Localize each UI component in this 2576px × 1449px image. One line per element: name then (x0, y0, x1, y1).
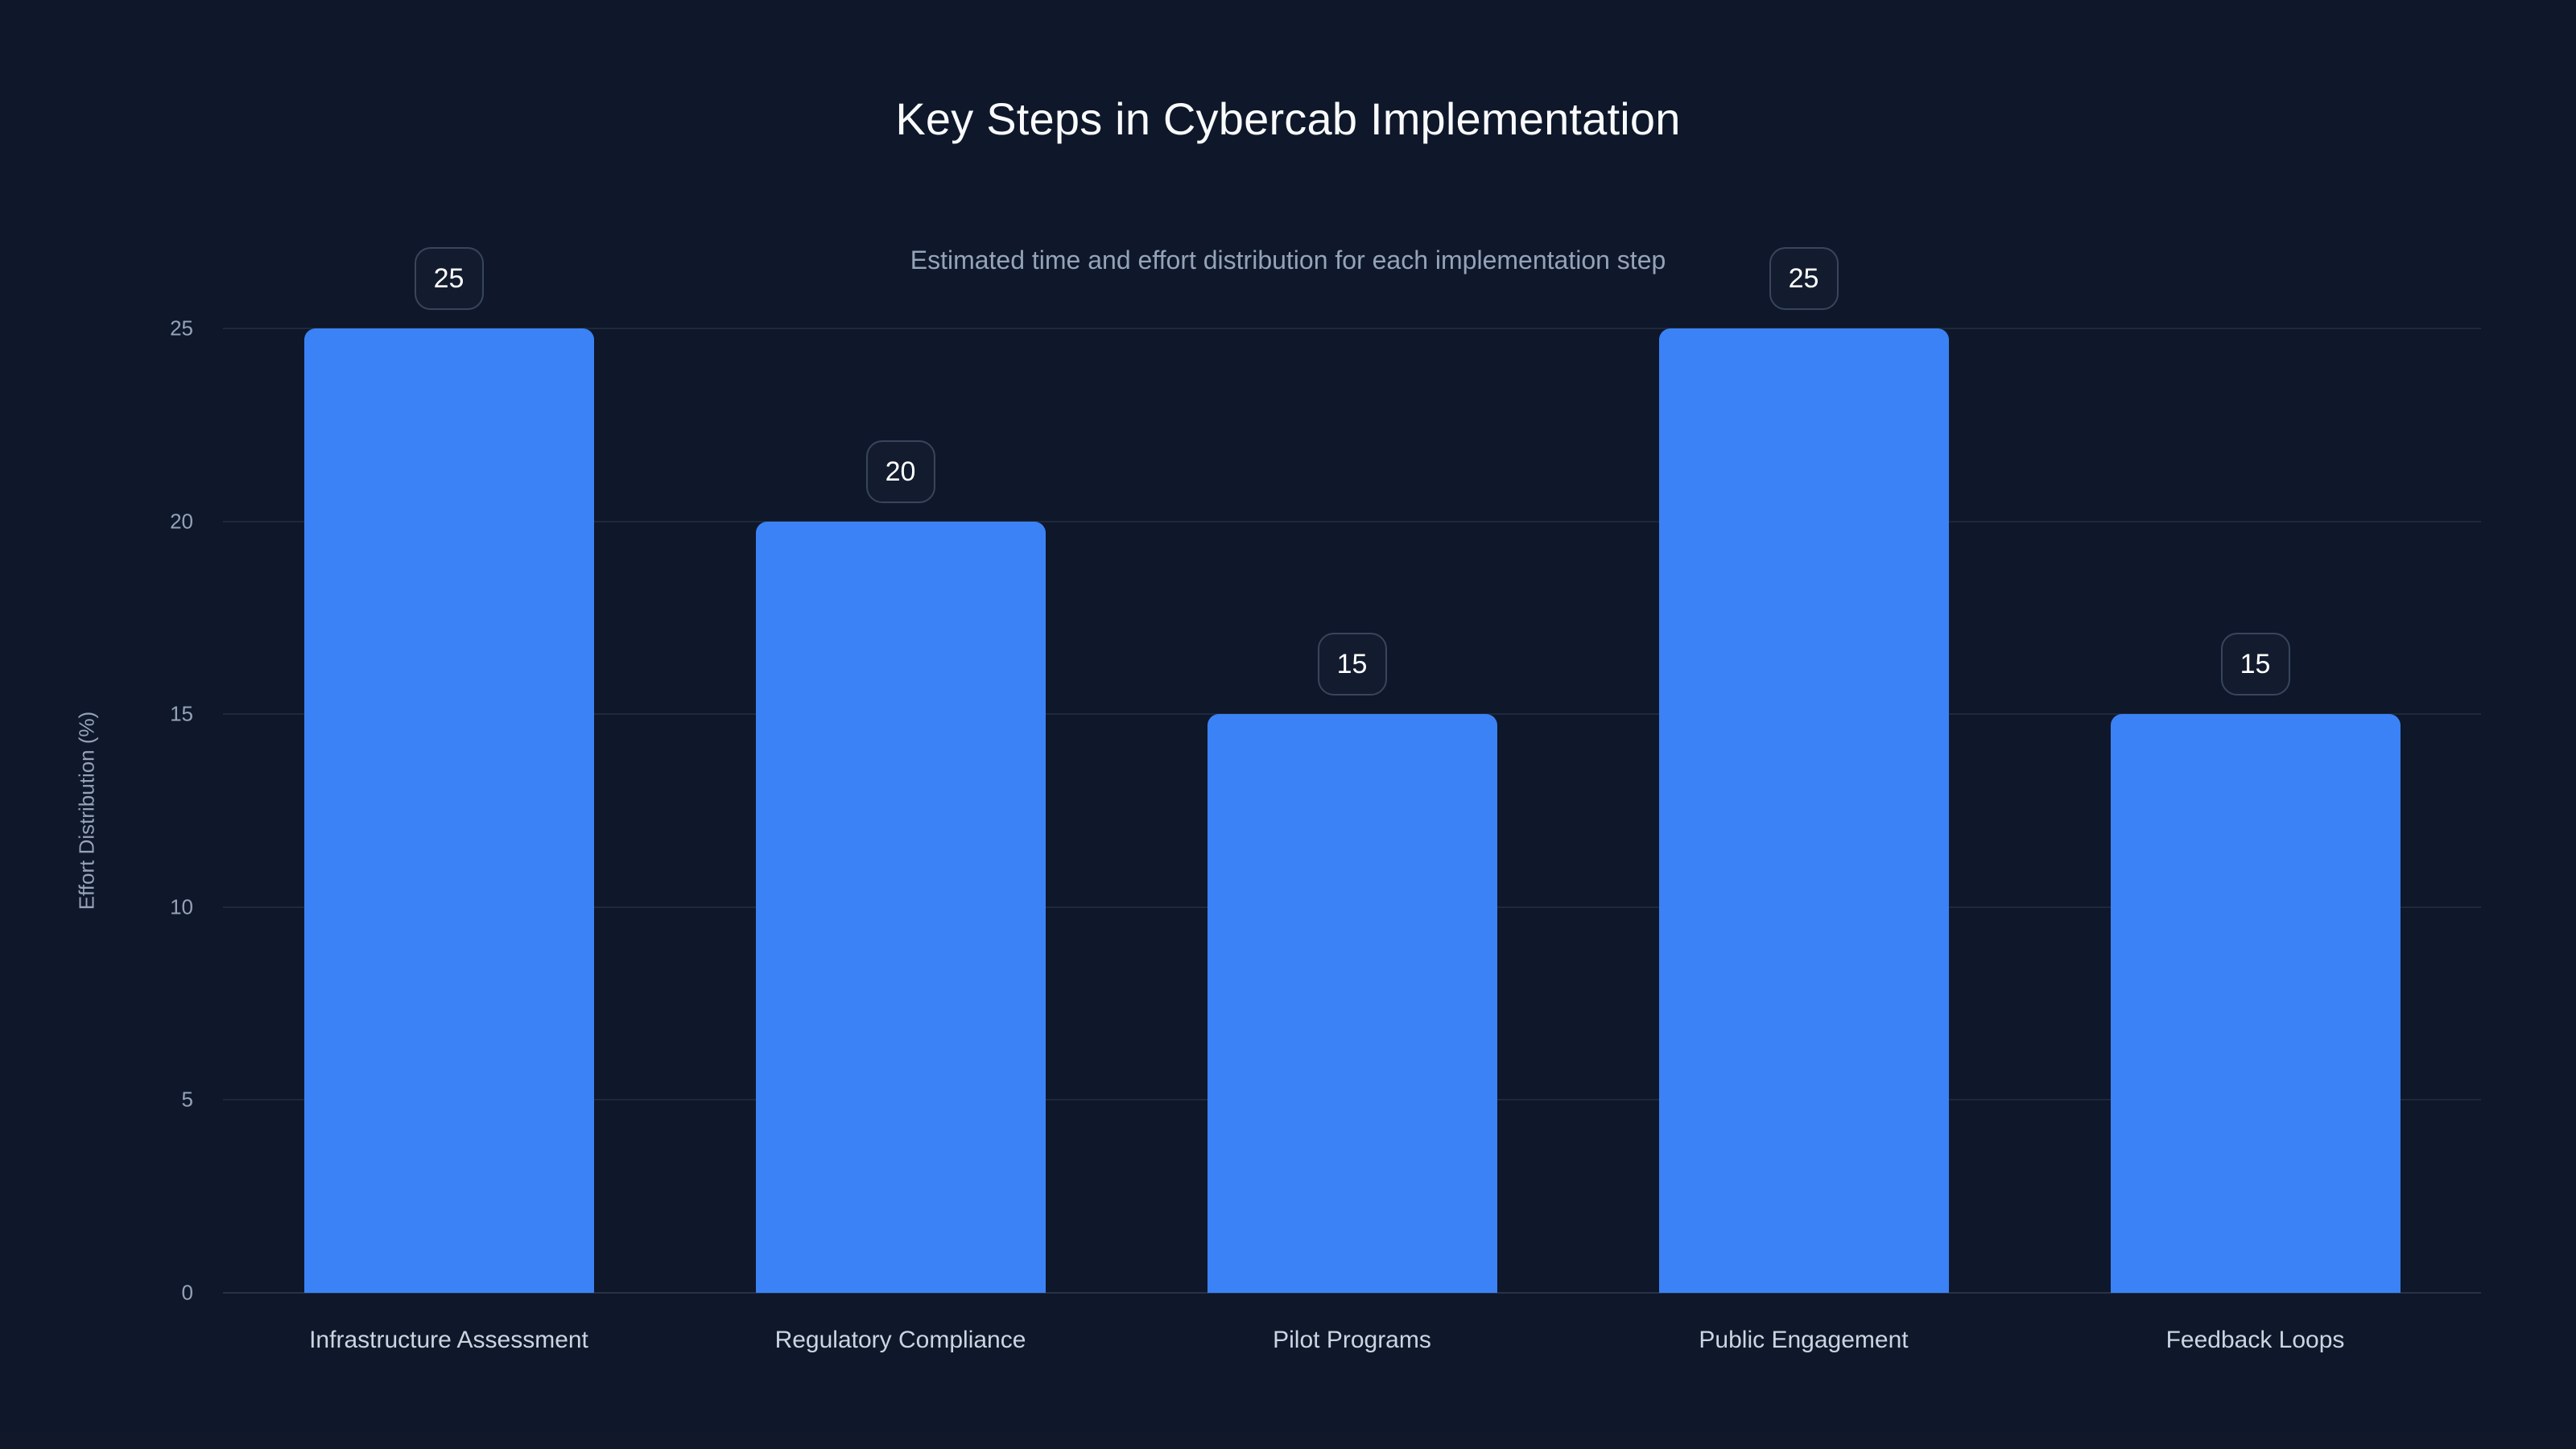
bar-value-badge: 25 (1769, 247, 1839, 310)
plot-area (223, 328, 2481, 1293)
y-axis-title: Effort Distribution (%) (75, 712, 100, 910)
y-axis-tick-label: 5 (72, 1088, 193, 1113)
bar-value-badge: 20 (866, 440, 935, 503)
bar-value-badge: 15 (1318, 633, 1387, 696)
canvas-bottom-edge (0, 1432, 2576, 1449)
y-axis-tick-label: 0 (72, 1281, 193, 1306)
bar[interactable] (304, 328, 594, 1293)
bar[interactable] (1659, 328, 1949, 1293)
x-axis-category-label: Feedback Loops (2166, 1327, 2345, 1354)
x-axis-category-label: Regulatory Compliance (775, 1327, 1026, 1354)
bar[interactable] (2111, 714, 2401, 1293)
chart-title: Key Steps in Cybercab Implementation (0, 93, 2576, 145)
chart-subtitle: Estimated time and effort distribution f… (0, 246, 2576, 275)
bar[interactable] (756, 522, 1046, 1293)
bar[interactable] (1207, 714, 1497, 1293)
x-axis-category-label: Pilot Programs (1273, 1327, 1431, 1354)
y-axis-tick-label: 20 (72, 509, 193, 534)
bar-chart-figure: Key Steps in Cybercab Implementation Est… (0, 0, 2576, 1449)
x-axis-category-label: Infrastructure Assessment (309, 1327, 588, 1354)
y-axis-tick-label: 25 (72, 316, 193, 341)
bar-value-badge: 25 (415, 247, 484, 310)
x-axis-category-label: Public Engagement (1699, 1327, 1908, 1354)
bar-value-badge: 15 (2221, 633, 2290, 696)
